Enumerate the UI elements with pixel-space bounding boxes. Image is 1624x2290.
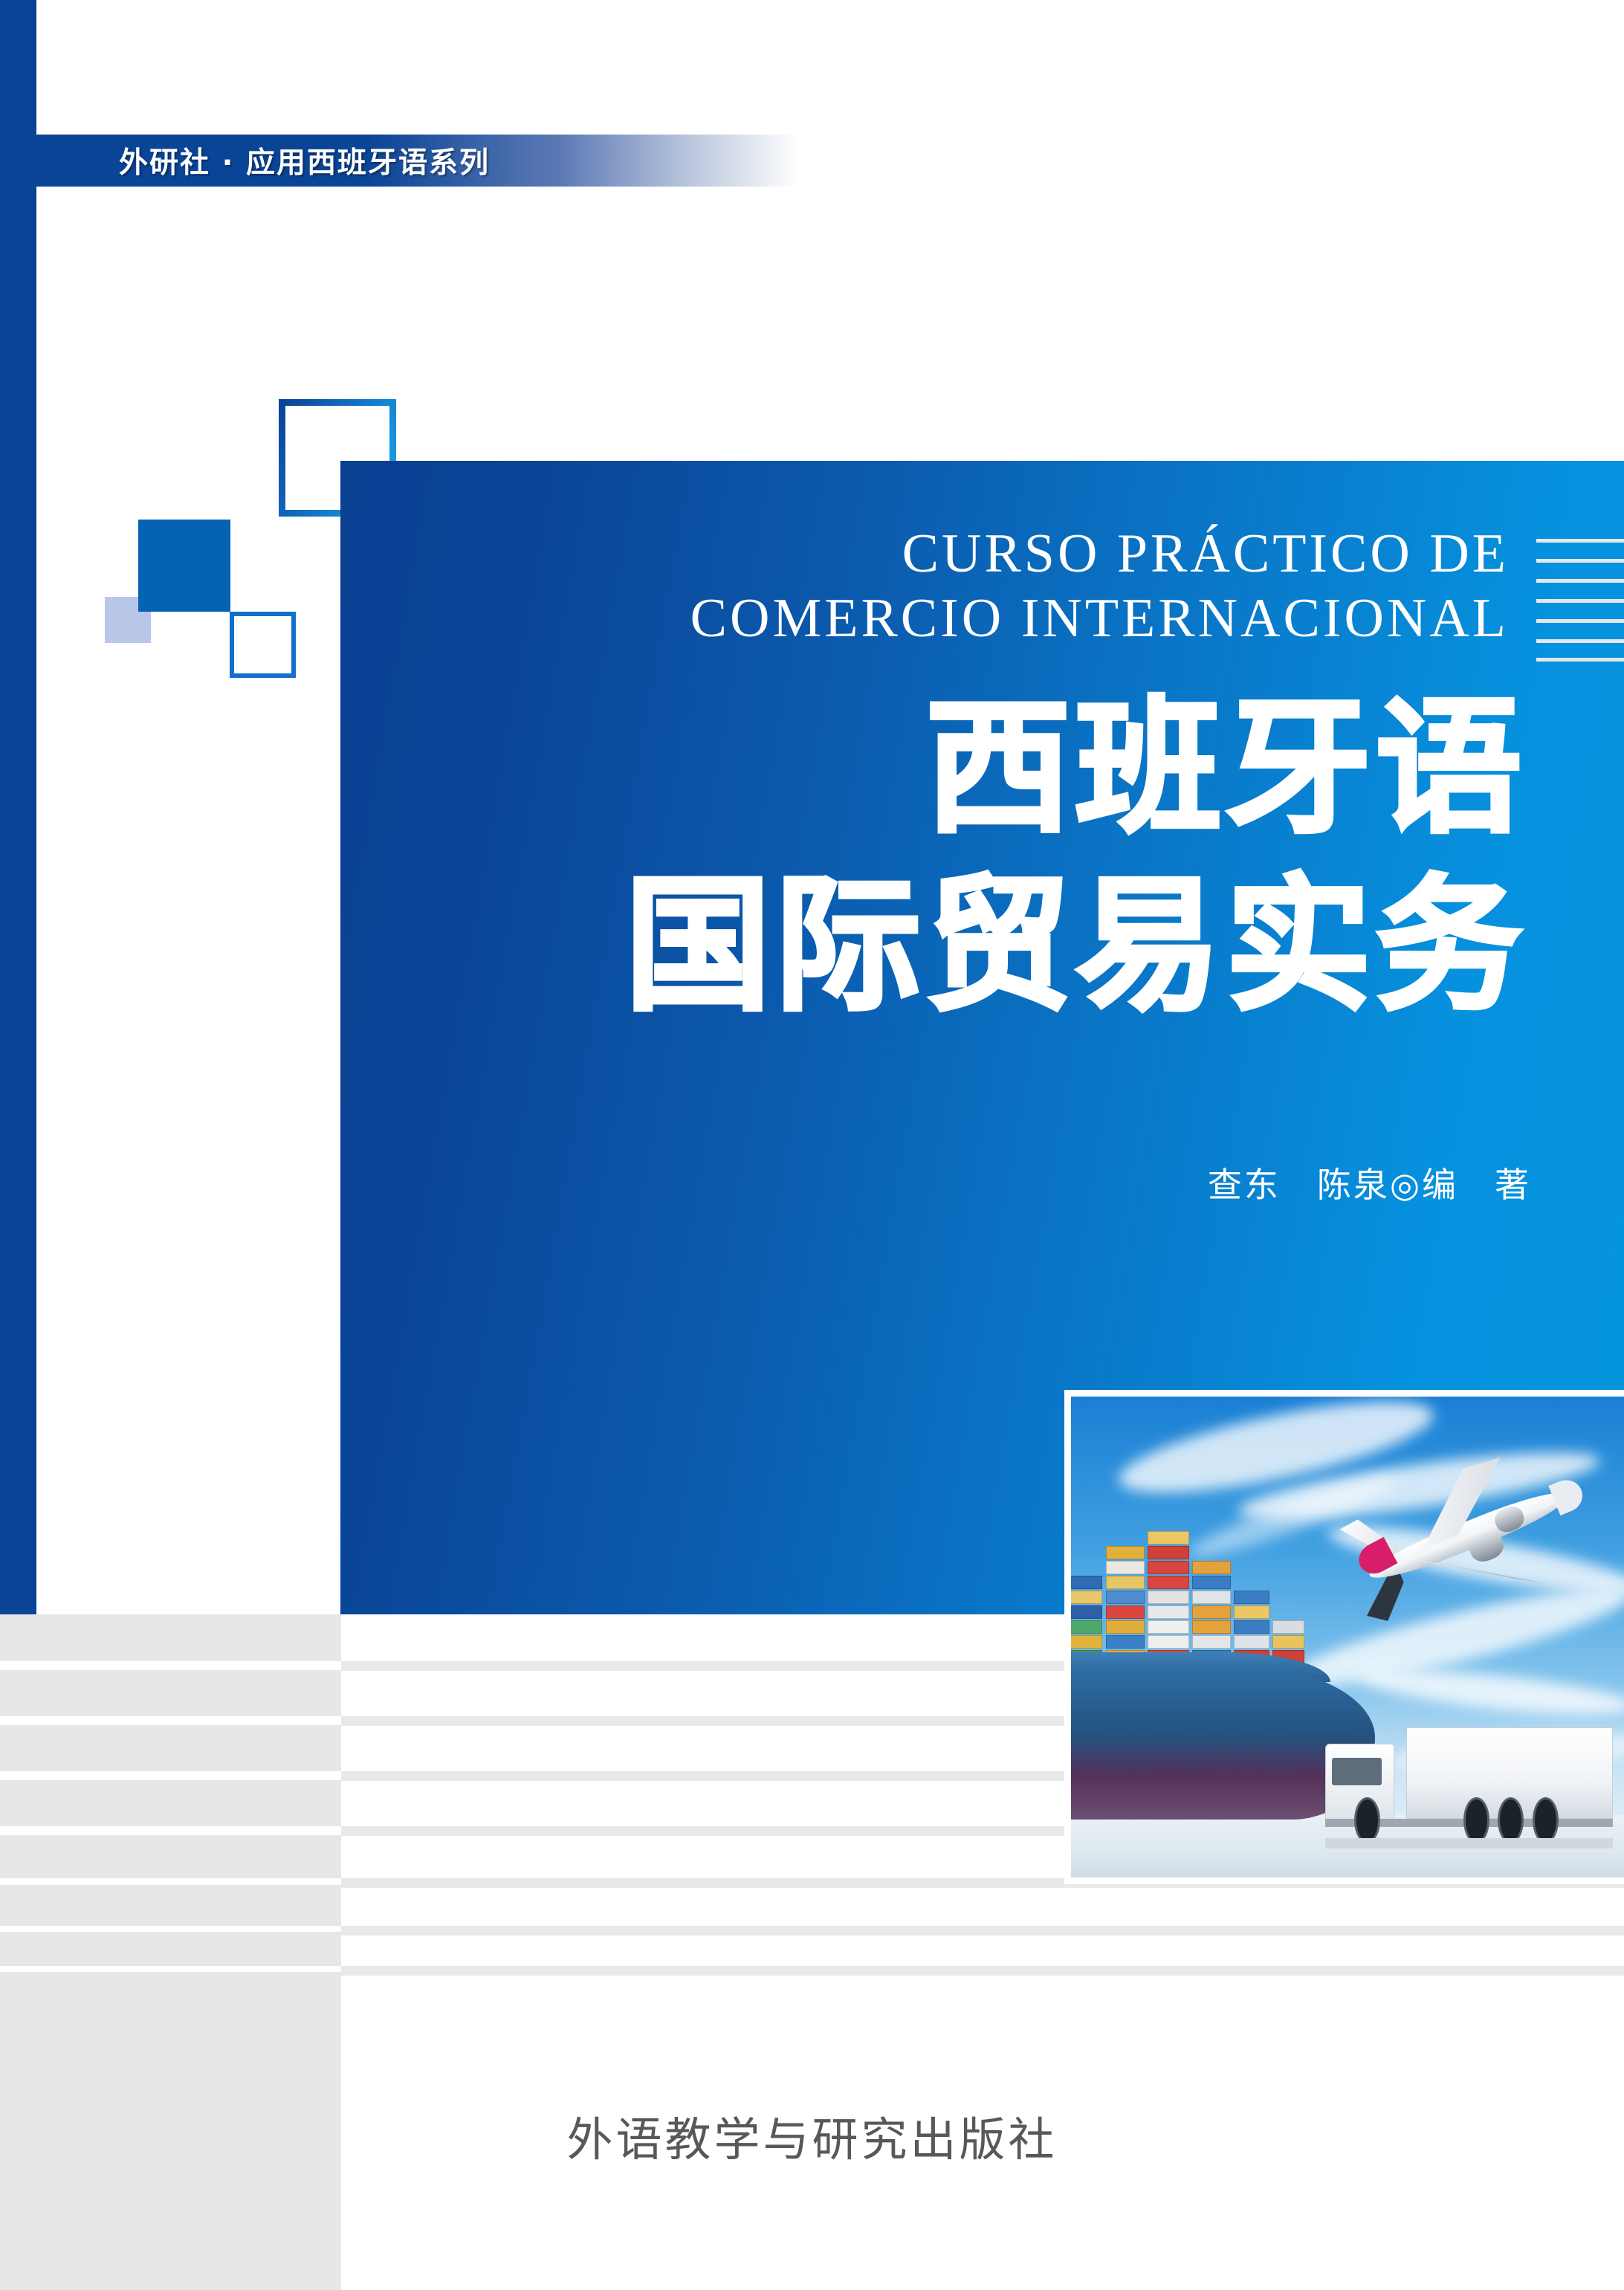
spanish-title-line1: CURSO PRÁCTICO DE [902, 523, 1509, 584]
truck-wheel [1498, 1797, 1524, 1843]
container-box [1234, 1620, 1269, 1634]
container-box [1234, 1605, 1269, 1619]
container-box [1106, 1620, 1145, 1634]
decor-square-outline-small [230, 612, 296, 678]
container-box [1106, 1591, 1145, 1604]
container-box [1106, 1635, 1145, 1649]
chinese-title-line1: 西班牙语 [340, 680, 1526, 858]
book-cover: 外研社 · 应用西班牙语系列 CURSO PRÁCTICO DE COMERCI… [0, 0, 1624, 2290]
chinese-title: 西班牙语 国际贸易实务 [340, 680, 1624, 1035]
decor-line [1536, 658, 1624, 662]
container-stack [1071, 1550, 1102, 1665]
cover-photo-scene [1071, 1397, 1624, 1877]
container-box [1272, 1635, 1304, 1649]
container-stack [1106, 1510, 1145, 1665]
container-box [1192, 1605, 1231, 1619]
authors-line: 查东 陈泉◎编 著 [340, 1158, 1624, 1207]
container-box [1071, 1576, 1102, 1589]
container-box [1071, 1591, 1102, 1604]
spanish-title: CURSO PRÁCTICO DE COMERCIO INTERNACIONAL [340, 522, 1624, 650]
container-box [1148, 1591, 1189, 1604]
stripe-band [0, 1614, 341, 1661]
stripe-band [0, 1780, 341, 1826]
container-box [1071, 1635, 1102, 1649]
container-box [1148, 1635, 1189, 1649]
stripe-band [0, 1835, 341, 1878]
container-box [1234, 1591, 1269, 1604]
stripe-line [341, 1966, 1624, 1976]
container-stack [1234, 1560, 1269, 1665]
container-box [1148, 1546, 1189, 1559]
container-box [1071, 1605, 1102, 1619]
container-box [1192, 1576, 1231, 1589]
road-surface [1325, 1838, 1613, 1849]
container-box [1192, 1561, 1231, 1574]
left-blue-bar [0, 0, 36, 1614]
container-box [1148, 1561, 1189, 1574]
stripe-line [341, 1926, 1624, 1935]
container-box [1148, 1605, 1189, 1619]
chinese-title-line2: 国际贸易实务 [340, 858, 1526, 1035]
container-box [1071, 1620, 1102, 1634]
container-box [1106, 1546, 1145, 1559]
stripe-band [0, 1670, 341, 1716]
cargo-truck-icon [1325, 1714, 1613, 1849]
container-box [1148, 1576, 1189, 1589]
container-box [1192, 1620, 1231, 1634]
stripe-band [0, 1932, 341, 1966]
spanish-title-line2: COMERCIO INTERNACIONAL [340, 586, 1509, 651]
container-box [1106, 1561, 1145, 1574]
container-box [1192, 1591, 1231, 1604]
cover-photo [1064, 1390, 1624, 1884]
container-box [1148, 1620, 1189, 1634]
series-banner: 外研社 · 应用西班牙语系列 [0, 135, 799, 187]
stripe-band [0, 1885, 341, 1926]
stripe-band [0, 1725, 341, 1771]
container-box [1272, 1620, 1304, 1634]
truck-wheel [1354, 1797, 1380, 1843]
container-stack [1272, 1590, 1304, 1665]
container-box [1106, 1605, 1145, 1619]
container-box [1106, 1576, 1145, 1589]
publisher-name: 外语教学与研究出版社 [0, 2102, 1624, 2169]
container-stack [1148, 1485, 1189, 1665]
container-box [1192, 1635, 1231, 1649]
container-box [1148, 1531, 1189, 1545]
container-box [1234, 1635, 1269, 1649]
bottom-left-bands [0, 1614, 341, 2290]
series-label: 外研社 · 应用西班牙语系列 [119, 140, 490, 181]
truck-windshield [1332, 1758, 1382, 1786]
truck-wheel [1463, 1797, 1489, 1843]
truck-wheel [1533, 1797, 1559, 1843]
decor-square-solid-blue [138, 520, 230, 612]
container-stack [1192, 1520, 1231, 1665]
